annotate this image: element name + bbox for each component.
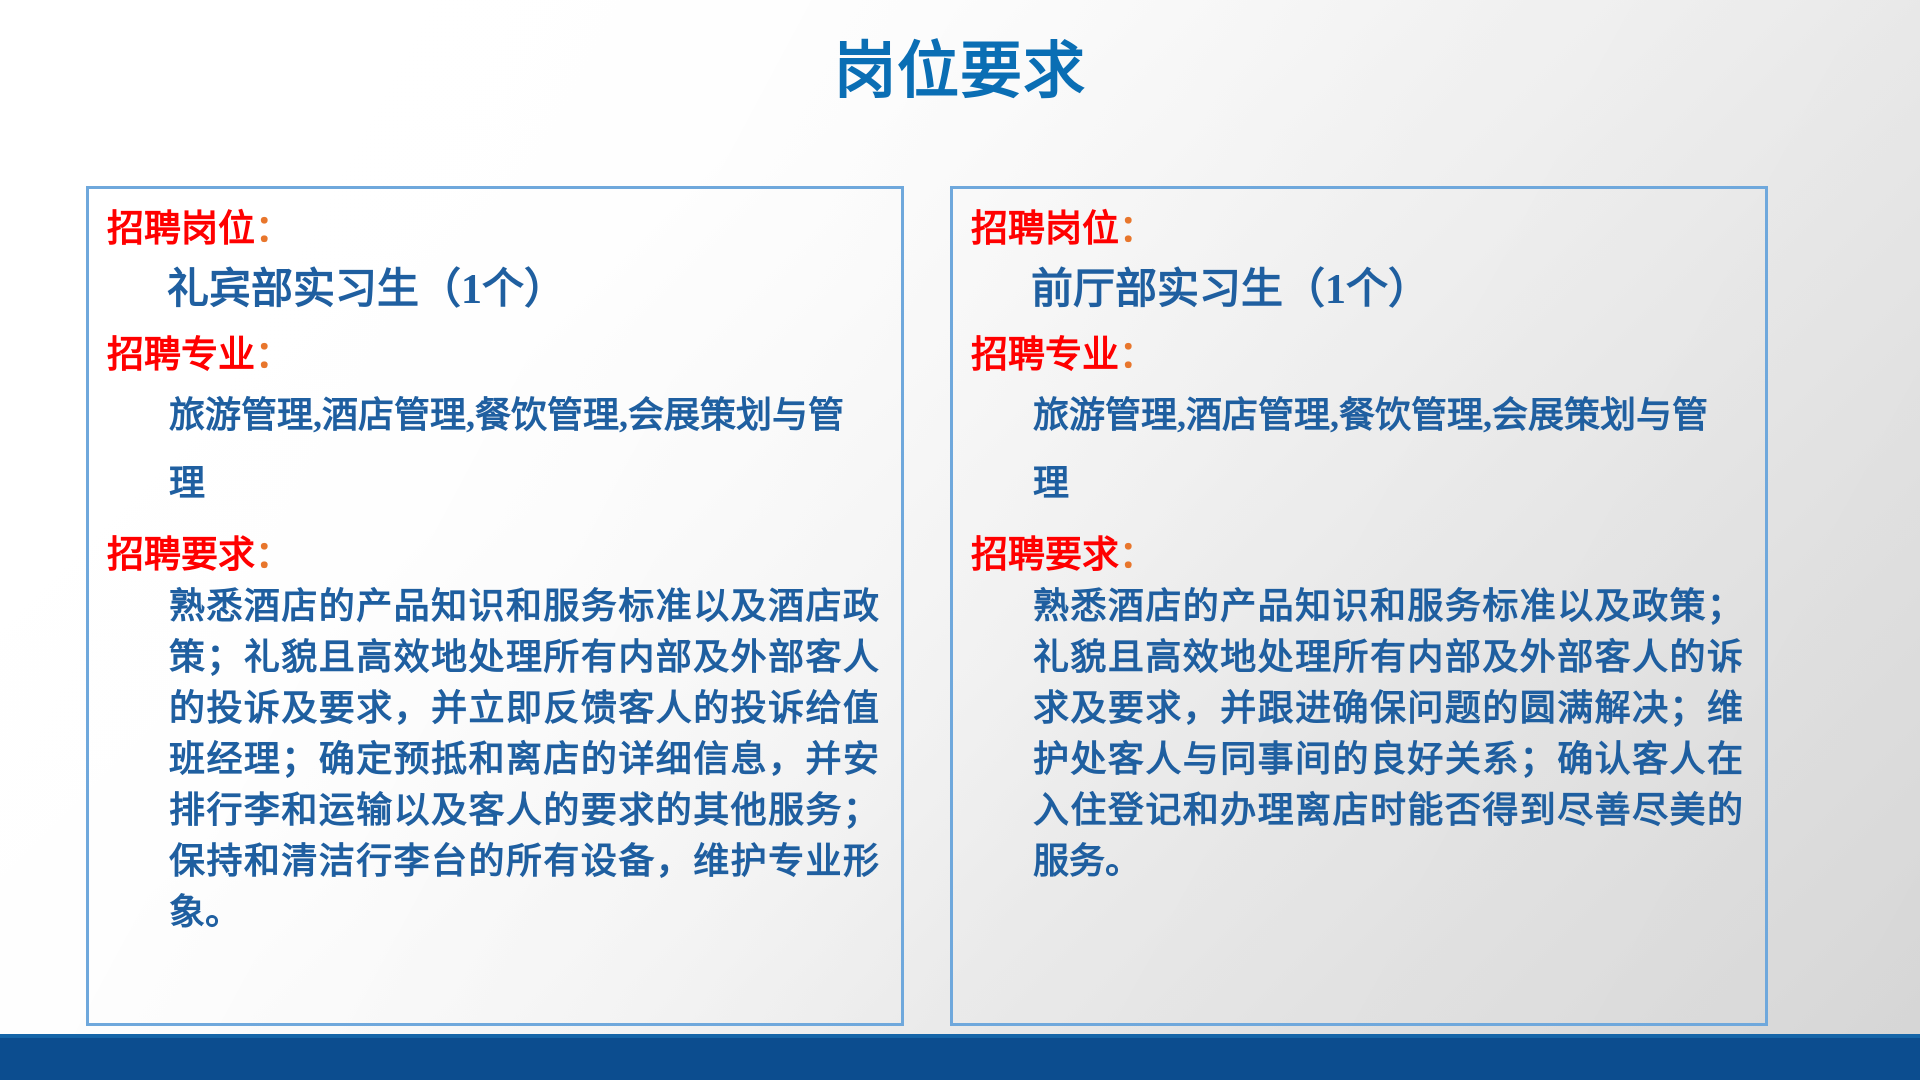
job-card-left: 招聘岗位： 礼宾部实习生（1个） 招聘专业： 旅游管理,酒店管理,餐饮管理,会展… [86,186,904,1026]
major-label-left: 招聘专业： [107,331,879,379]
cards-container: 招聘岗位： 礼宾部实习生（1个） 招聘专业： 旅游管理,酒店管理,餐饮管理,会展… [0,186,1920,1036]
major-value-left: 旅游管理,酒店管理,餐饮管理,会展策划与管理 [107,381,869,517]
position-value-left: 礼宾部实习生（1个） [107,257,879,323]
major-label-colon-right: ： [1119,334,1156,375]
slide-canvas: 岗位要求 招聘岗位： 礼宾部实习生（1个） 招聘专业： 旅游管理,酒店管理,餐饮… [0,0,1920,1080]
major-value-right: 旅游管理,酒店管理,餐饮管理,会展策划与管理 [971,381,1733,517]
position-label-left: 招聘岗位： [107,205,879,253]
requirement-label-left: 招聘要求： [107,531,879,579]
requirement-label-text-left: 招聘要求 [107,534,255,575]
spacer-left-1 [107,523,879,531]
position-label-colon-right: ： [1119,208,1156,249]
requirement-label-text-right: 招聘要求 [971,534,1119,575]
position-label-text-right: 招聘岗位 [971,208,1119,249]
position-value-right: 前厅部实习生（1个） [971,257,1743,323]
requirement-label-right: 招聘要求： [971,531,1743,579]
requirement-label-colon-left: ： [255,534,292,575]
spacer-right-1 [971,523,1743,531]
footer-bar [0,1038,1920,1080]
requirement-value-right: 熟悉酒店的产品知识和服务标准以及政策；礼貌且高效地处理所有内部及外部客人的诉求及… [971,581,1743,887]
major-label-text-left: 招聘专业 [107,334,255,375]
major-label-right: 招聘专业： [971,331,1743,379]
major-label-colon-left: ： [255,334,292,375]
job-card-right: 招聘岗位： 前厅部实习生（1个） 招聘专业： 旅游管理,酒店管理,餐饮管理,会展… [950,186,1768,1026]
page-title: 岗位要求 [0,36,1920,108]
position-label-right: 招聘岗位： [971,205,1743,253]
position-label-colon-left: ： [255,208,292,249]
major-label-text-right: 招聘专业 [971,334,1119,375]
requirement-value-left: 熟悉酒店的产品知识和服务标准以及酒店政策；礼貌且高效地处理所有内部及外部客人的投… [107,581,879,938]
requirement-label-colon-right: ： [1119,534,1156,575]
position-label-text-left: 招聘岗位 [107,208,255,249]
